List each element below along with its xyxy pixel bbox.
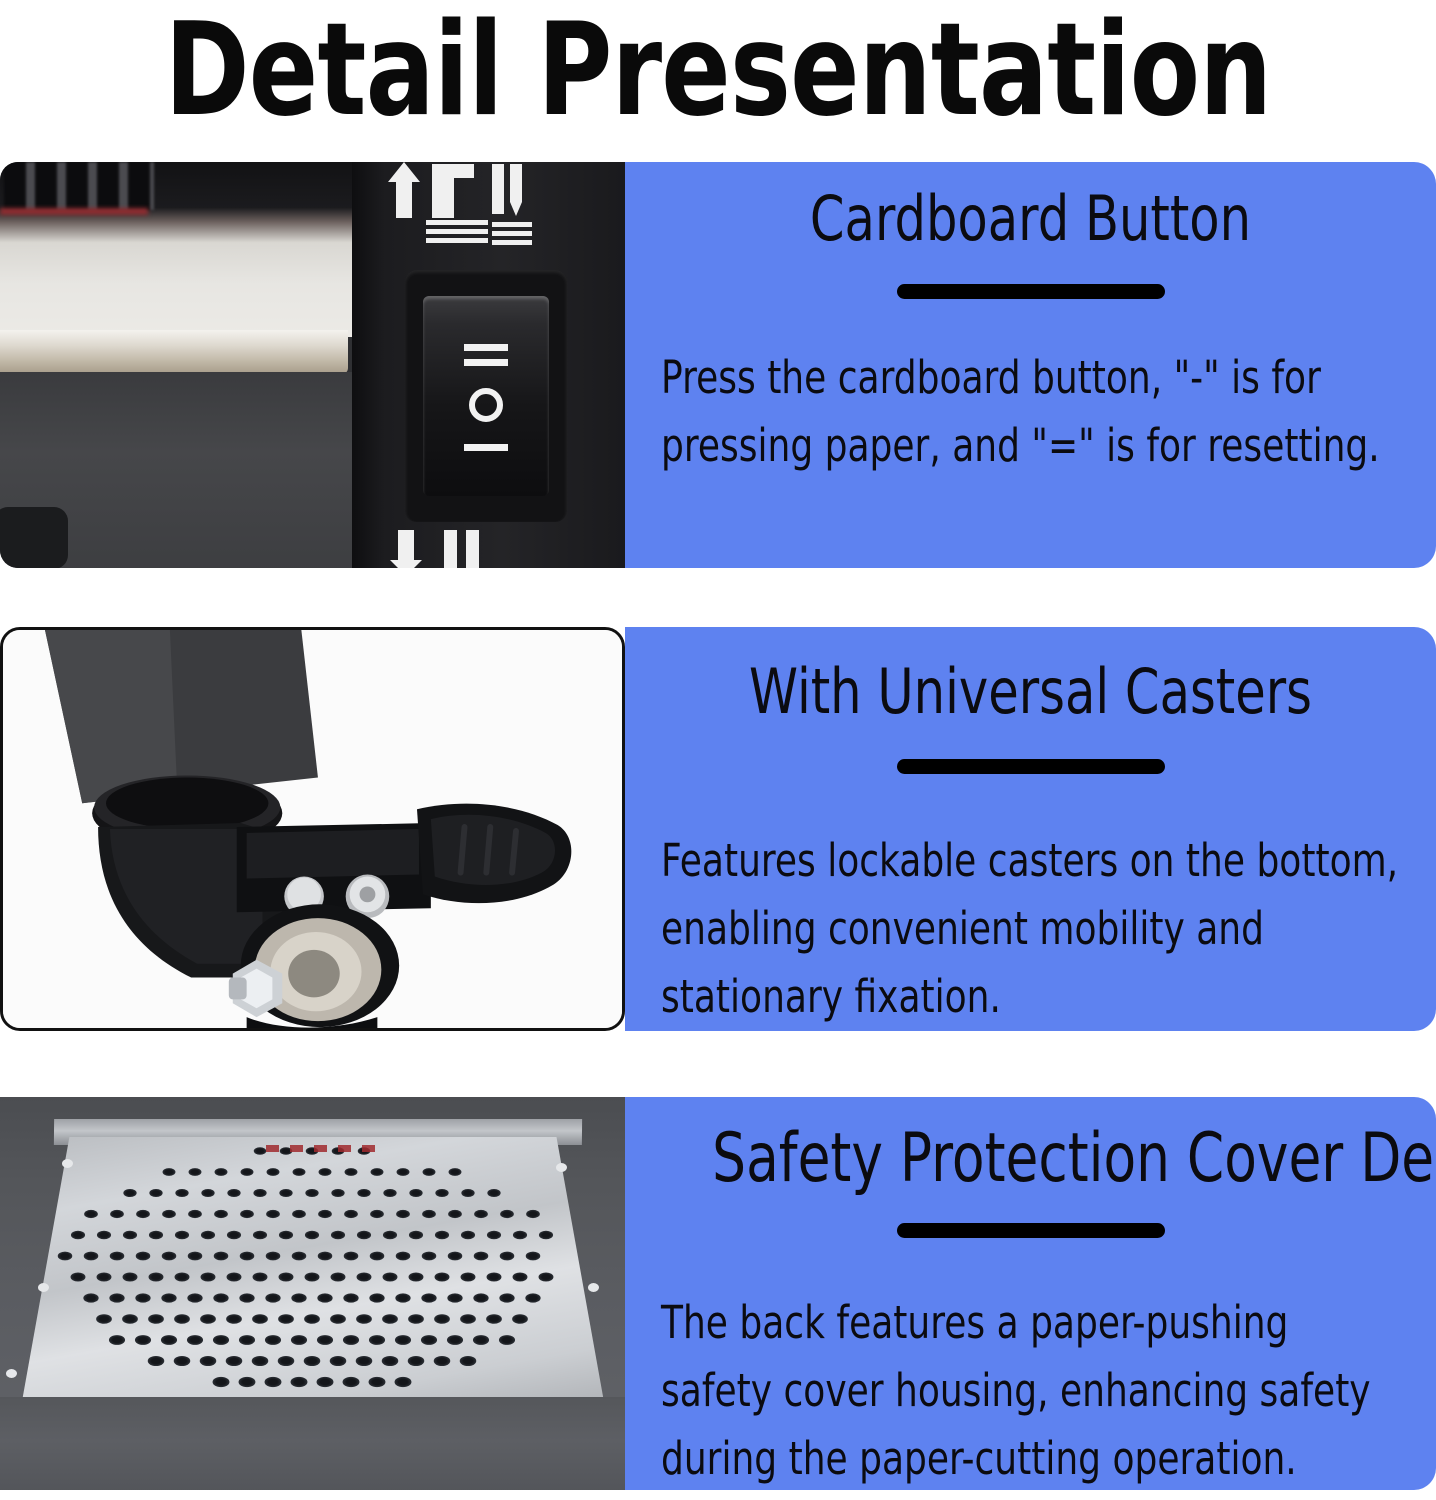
rocker-switch-housing bbox=[405, 270, 567, 522]
feature-text-panel: Cardboard Button Press the cardboard but… bbox=[625, 162, 1436, 568]
perforation-holes bbox=[10, 1137, 604, 1402]
cover-screw bbox=[62, 1159, 73, 1168]
feature-description: Features lockable casters on the bottom,… bbox=[661, 827, 1406, 1031]
cardboard-rocker-switch[interactable] bbox=[423, 296, 549, 496]
caster-illustration bbox=[3, 630, 622, 1028]
cover-screw bbox=[6, 1369, 17, 1378]
plate-edge-lip bbox=[0, 330, 348, 374]
paper-down-arrow-icon bbox=[386, 530, 506, 568]
feature-description: Press the cardboard button, "-" is for p… bbox=[661, 344, 1406, 480]
feature-photo-safety-cover bbox=[0, 1097, 625, 1490]
feature-text-panel: Safety Protection Cover Design The back … bbox=[625, 1097, 1436, 1490]
paper-up-arrow-icon bbox=[386, 162, 536, 246]
machine-body-notch bbox=[0, 507, 68, 568]
heading-divider-bar bbox=[897, 759, 1165, 774]
dash-symbol-icon bbox=[464, 444, 508, 451]
feature-heading: Safety Protection Cover Design bbox=[712, 1121, 1349, 1197]
feature-photo-universal-caster bbox=[0, 627, 625, 1031]
page-title: Detail Presentation bbox=[144, 0, 1293, 146]
feature-row: Safety Protection Cover Design The back … bbox=[0, 1097, 1436, 1490]
heading-divider-bar bbox=[897, 1223, 1165, 1238]
feature-heading: Cardboard Button bbox=[706, 184, 1355, 254]
detail-presentation-page: Detail Presentation bbox=[0, 0, 1436, 1500]
feature-photo-cardboard-button bbox=[0, 162, 625, 568]
circle-symbol-icon bbox=[469, 388, 503, 422]
cover-screw bbox=[588, 1283, 599, 1292]
feature-description: The back features a paper-pushing safety… bbox=[661, 1289, 1406, 1493]
feature-text-panel: With Universal Casters Features lockable… bbox=[625, 627, 1436, 1031]
equals-symbol-icon bbox=[464, 344, 508, 366]
cover-screw bbox=[556, 1163, 567, 1172]
red-alignment-marks bbox=[266, 1145, 382, 1152]
feature-row: With Universal Casters Features lockable… bbox=[0, 627, 1436, 1031]
blurred-background-bars bbox=[4, 162, 154, 210]
machine-base-panel bbox=[0, 1397, 625, 1490]
feature-heading: With Universal Casters bbox=[706, 657, 1355, 727]
red-laser-line bbox=[0, 208, 148, 215]
feature-row: Cardboard Button Press the cardboard but… bbox=[0, 162, 1436, 568]
cover-screw bbox=[38, 1283, 49, 1292]
heading-divider-bar bbox=[897, 284, 1165, 299]
